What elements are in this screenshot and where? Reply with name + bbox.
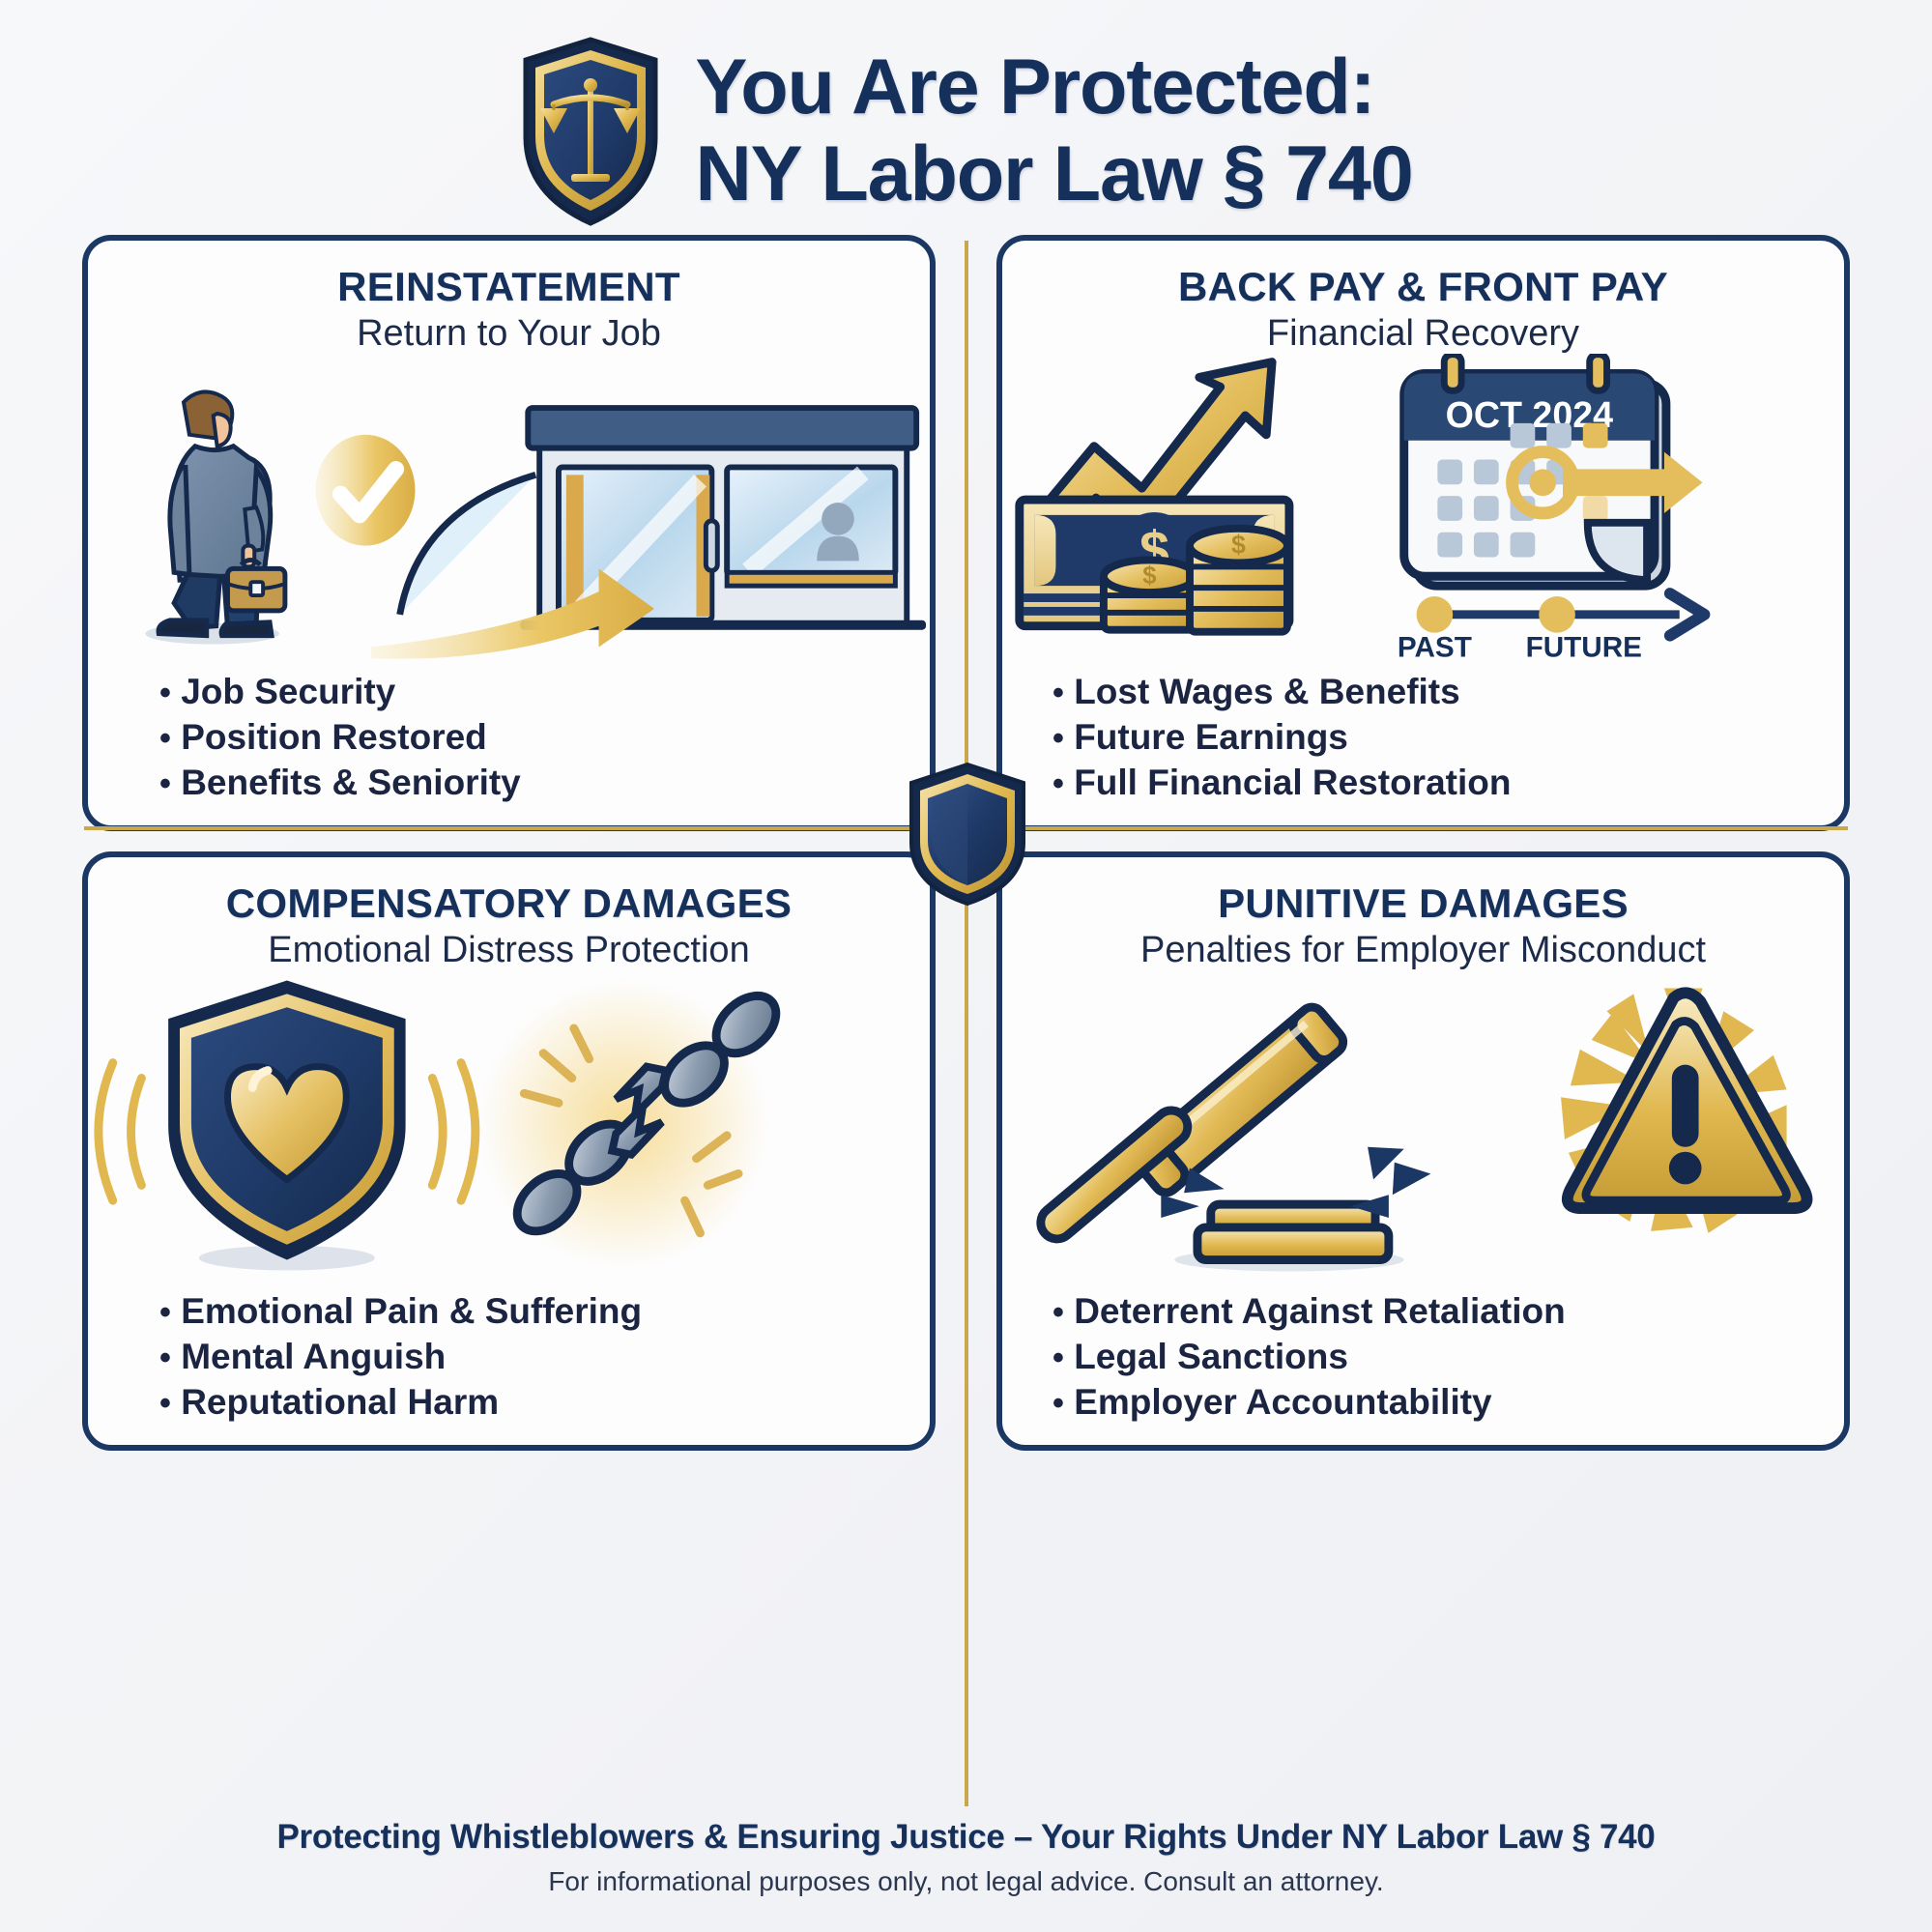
footer-tagline: Protecting Whistleblowers & Ensuring Jus… bbox=[0, 1818, 1932, 1857]
vertical-divider bbox=[965, 241, 968, 1806]
bullet-text: Reputational Harm bbox=[181, 1382, 499, 1422]
page-title-line-1: You Are Protected: bbox=[695, 44, 1412, 130]
bullet-text: Position Restored bbox=[181, 717, 487, 757]
list-item: • Legal Sanctions bbox=[1053, 1335, 1844, 1380]
gavel-icon bbox=[1034, 1002, 1430, 1259]
timeline-arrow-icon bbox=[1417, 593, 1705, 636]
office-door-entrance-icon bbox=[520, 408, 926, 630]
svg-text:$: $ bbox=[1142, 562, 1156, 590]
bullet-text: Deterrent Against Retaliation bbox=[1074, 1291, 1566, 1331]
list-item: • Emotional Pain & Suffering bbox=[159, 1289, 930, 1335]
list-item: • Full Financial Restoration bbox=[1053, 761, 1844, 806]
bullet-text: Future Earnings bbox=[1074, 717, 1348, 757]
bullet-text: Job Security bbox=[181, 672, 395, 711]
list-item: • Job Security bbox=[159, 670, 930, 715]
card-artwork bbox=[88, 970, 930, 1278]
card-header: COMPENSATORY DAMAGES Emotional Distress … bbox=[88, 857, 930, 970]
bullet-text: Mental Anguish bbox=[181, 1337, 446, 1376]
card-header: REINSTATEMENT Return to Your Job bbox=[88, 241, 930, 354]
card-subtitle: Return to Your Job bbox=[88, 314, 930, 354]
svg-text:$: $ bbox=[1231, 530, 1246, 559]
shield-icon bbox=[907, 762, 1028, 907]
quadrant-grid: REINSTATEMENT Return to Your Job bbox=[82, 235, 1850, 1817]
curved-arrow-icon bbox=[400, 475, 536, 615]
card-back-pay-front-pay[interactable]: BACK PAY & FRONT PAY Financial Recovery bbox=[996, 235, 1850, 831]
timeline-past-label: PAST bbox=[1398, 631, 1472, 661]
bullet-text: Full Financial Restoration bbox=[1074, 763, 1511, 802]
timeline-future-label: FUTURE bbox=[1526, 631, 1642, 661]
bullet-text: Employer Accountability bbox=[1074, 1382, 1491, 1422]
card-punitive-damages[interactable]: PUNITIVE DAMAGES Penalties for Employer … bbox=[996, 851, 1850, 1451]
card-artwork bbox=[88, 354, 930, 661]
shield-with-heart-icon bbox=[168, 980, 405, 1259]
warning-triangle-icon bbox=[1561, 988, 1806, 1232]
card-title: PUNITIVE DAMAGES bbox=[1002, 882, 1844, 926]
gold-checkmark-icon bbox=[316, 434, 416, 545]
card-subtitle: Emotional Distress Protection bbox=[88, 931, 930, 970]
list-item: • Employer Accountability bbox=[1053, 1380, 1844, 1426]
list-item: • Mental Anguish bbox=[159, 1335, 930, 1380]
card-title: COMPENSATORY DAMAGES bbox=[88, 882, 930, 926]
card-title: BACK PAY & FRONT PAY bbox=[1002, 266, 1844, 309]
card-header: PUNITIVE DAMAGES Penalties for Employer … bbox=[1002, 857, 1844, 970]
broken-chain-icon bbox=[478, 978, 788, 1269]
card-reinstatement[interactable]: REINSTATEMENT Return to Your Job bbox=[82, 235, 936, 831]
bullet-text: Emotional Pain & Suffering bbox=[181, 1291, 642, 1331]
businessman-with-briefcase-icon bbox=[159, 391, 285, 635]
card-artwork: $ $ bbox=[1002, 354, 1844, 661]
bullet-text: Benefits & Seniority bbox=[181, 763, 521, 802]
card-subtitle: Penalties for Employer Misconduct bbox=[1002, 931, 1844, 970]
list-item: • Lost Wages & Benefits bbox=[1053, 670, 1844, 715]
bullet-text: Legal Sanctions bbox=[1074, 1337, 1348, 1376]
infographic-page: You Are Protected: NY Labor Law § 740 RE… bbox=[0, 0, 1932, 1932]
calendar-icon: OCT 2024 bbox=[1404, 354, 1703, 586]
list-item: • Reputational Harm bbox=[159, 1380, 930, 1426]
card-bullets: • Lost Wages & Benefits • Future Earning… bbox=[1002, 670, 1844, 806]
list-item: • Deterrent Against Retaliation bbox=[1053, 1289, 1844, 1335]
header-titles: You Are Protected: NY Labor Law § 740 bbox=[695, 44, 1412, 216]
card-title: REINSTATEMENT bbox=[88, 266, 930, 309]
list-item: • Position Restored bbox=[159, 715, 930, 761]
footer: Protecting Whistleblowers & Ensuring Jus… bbox=[0, 1818, 1932, 1897]
card-artwork bbox=[1002, 970, 1844, 1278]
list-item: • Future Earnings bbox=[1053, 715, 1844, 761]
page-title-line-2: NY Labor Law § 740 bbox=[695, 131, 1412, 217]
shield-scales-of-justice-icon bbox=[519, 37, 662, 226]
list-item: • Benefits & Seniority bbox=[159, 761, 930, 806]
header: You Are Protected: NY Labor Law § 740 bbox=[0, 27, 1932, 235]
card-bullets: • Emotional Pain & Suffering • Mental An… bbox=[88, 1289, 930, 1426]
bullet-text: Lost Wages & Benefits bbox=[1074, 672, 1460, 711]
card-subtitle: Financial Recovery bbox=[1002, 314, 1844, 354]
card-bullets: • Job Security • Position Restored • Ben… bbox=[88, 670, 930, 806]
footer-disclaimer: For informational purposes only, not leg… bbox=[0, 1866, 1932, 1897]
card-compensatory-damages[interactable]: COMPENSATORY DAMAGES Emotional Distress … bbox=[82, 851, 936, 1451]
card-header: BACK PAY & FRONT PAY Financial Recovery bbox=[1002, 241, 1844, 354]
card-bullets: • Deterrent Against Retaliation • Legal … bbox=[1002, 1289, 1844, 1426]
